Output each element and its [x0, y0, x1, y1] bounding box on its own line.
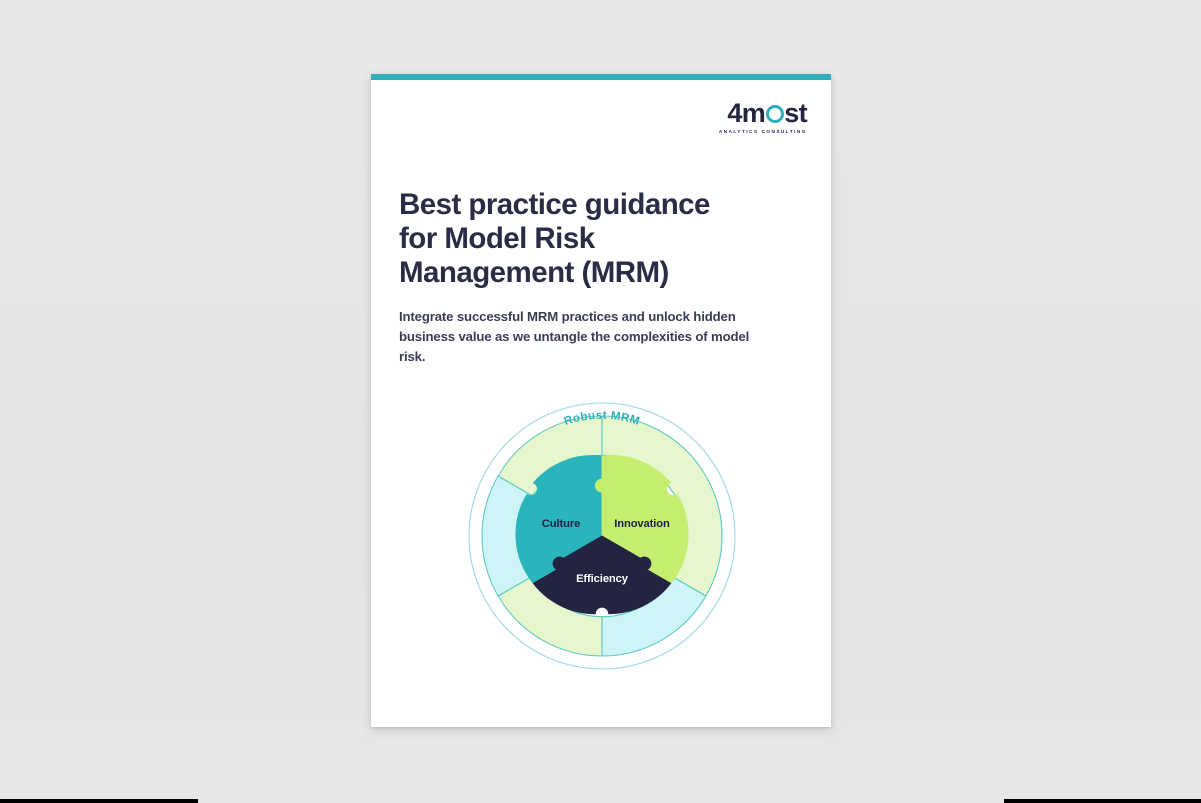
page-accent-bar [371, 74, 831, 80]
page-subtitle: Integrate successful MRM practices and u… [399, 307, 751, 368]
robust-mrm-diagram: Culture Innovation Efficiency Robust MRM [457, 389, 747, 679]
logo-wordmark-part2: st [784, 98, 807, 128]
jigsaw-label-innovation: Innovation [614, 518, 670, 530]
inner-jigsaw [516, 455, 688, 613]
circle-o-icon [766, 105, 784, 123]
jigsaw-label-efficiency: Efficiency [576, 573, 629, 585]
scrollbar-segment-left[interactable] [0, 799, 198, 803]
brand-logo: 4mst ANALYTICS CONSULTING [719, 100, 807, 135]
document-page: 4mst ANALYTICS CONSULTING Best practice … [371, 74, 831, 727]
page-title: Best practice guidance for Model Risk Ma… [399, 188, 749, 290]
logo-wordmark: 4mst [719, 100, 807, 127]
scrollbar-segment-right[interactable] [1004, 799, 1201, 803]
horizontal-scrollbar[interactable] [0, 799, 1201, 803]
jigsaw-label-culture: Culture [542, 518, 580, 530]
logo-wordmark-part1: 4m [727, 98, 765, 128]
logo-tagline: ANALYTICS CONSULTING [719, 130, 807, 135]
